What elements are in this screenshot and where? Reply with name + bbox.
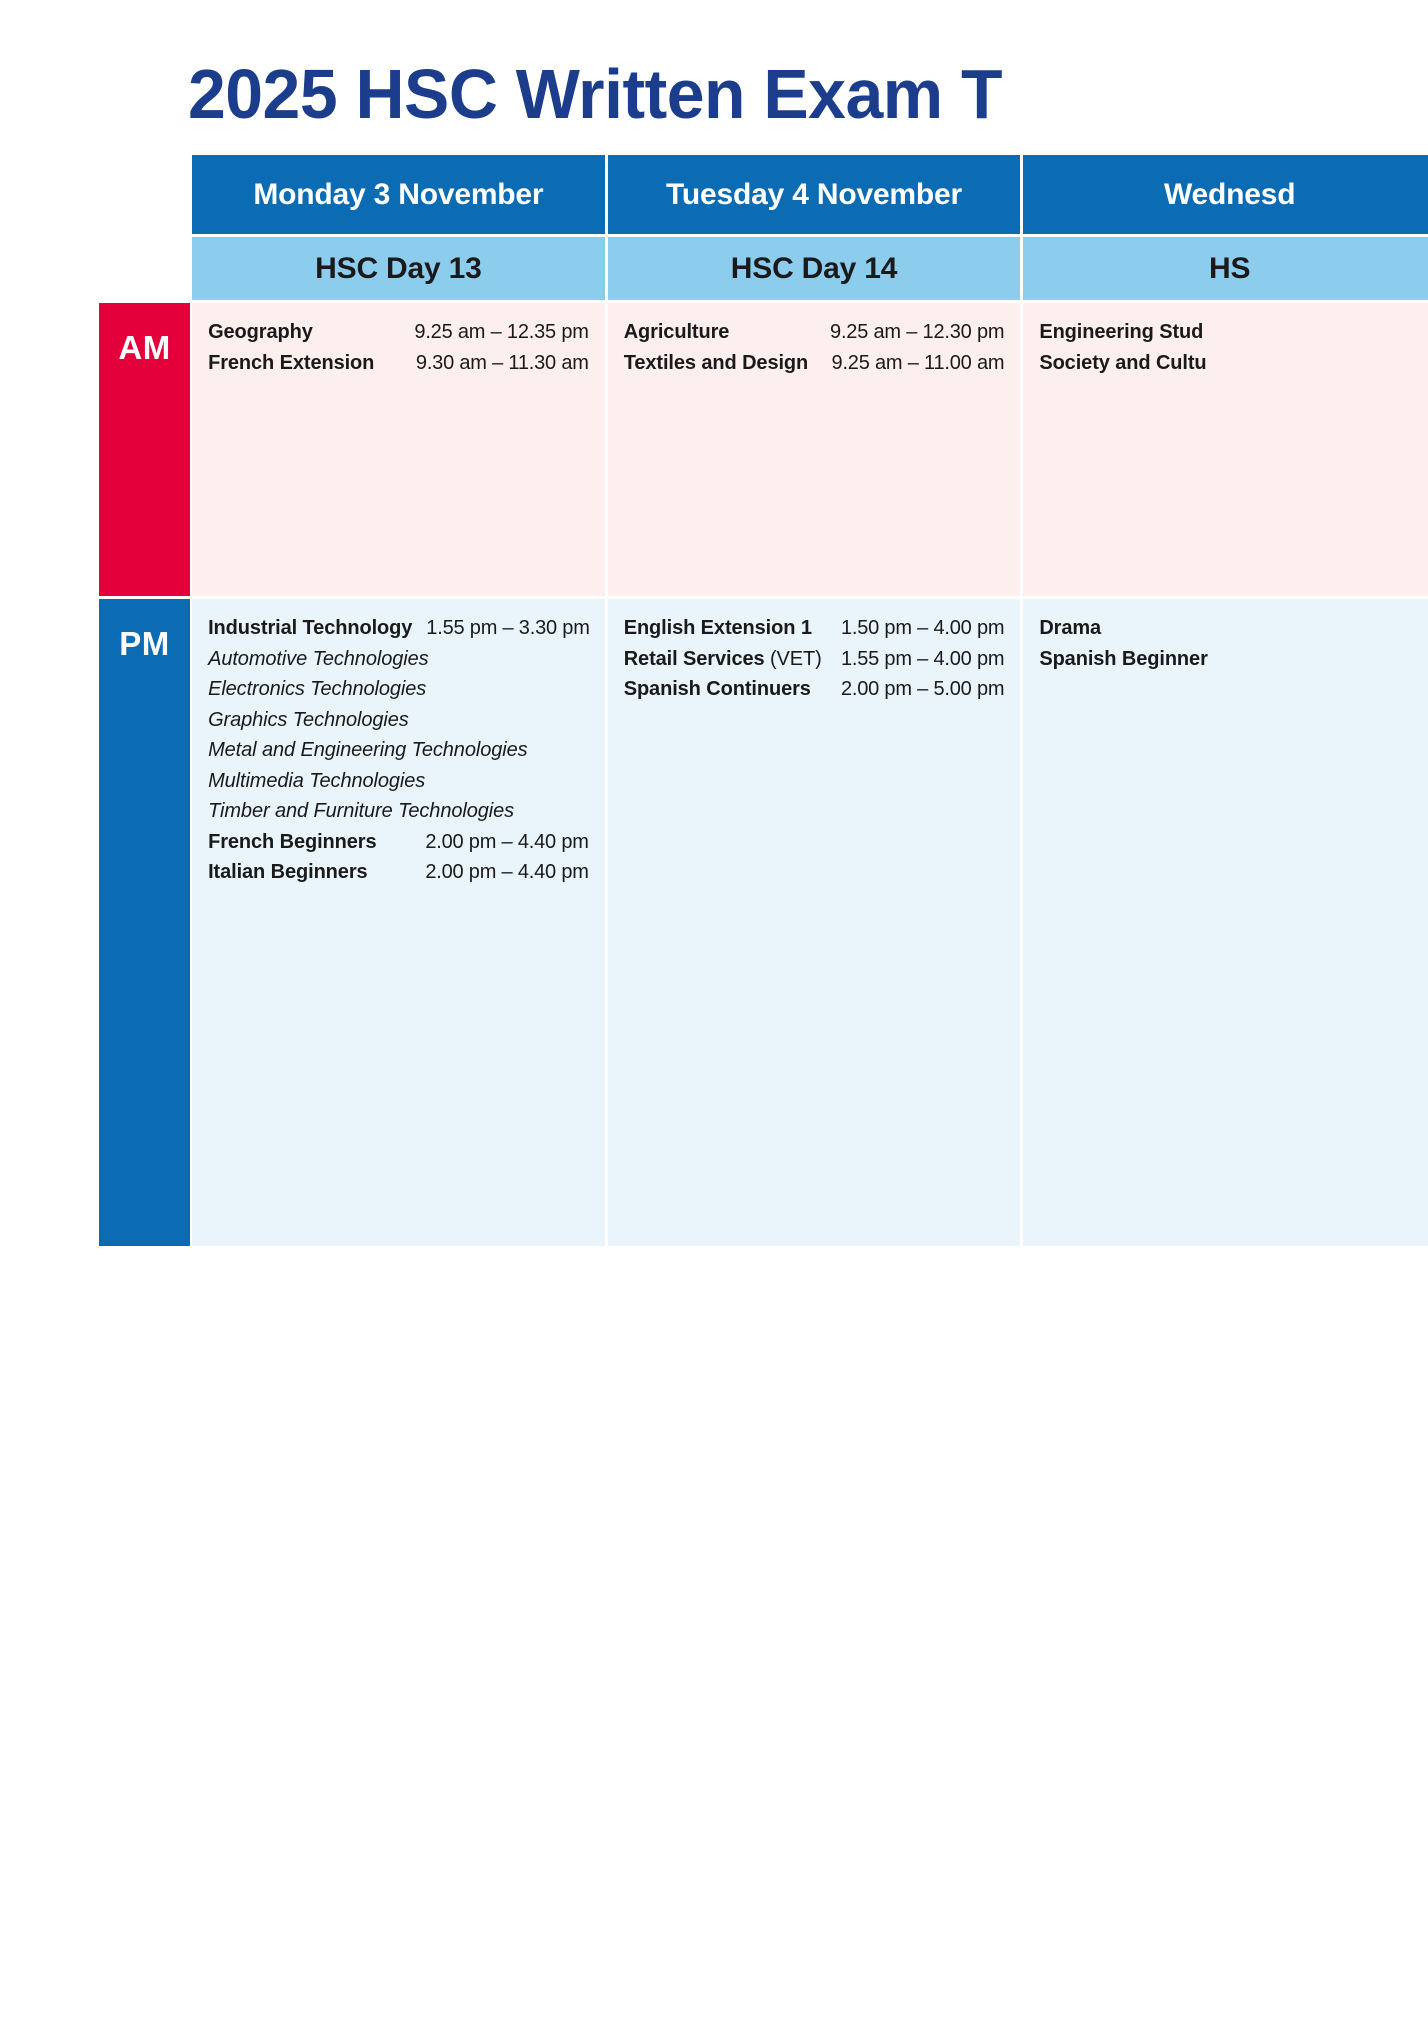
exam-subject: Geography xyxy=(208,317,313,348)
column-header-day-1: HSC Day 14 xyxy=(608,234,1024,300)
page-title: 2025 HSC Written Exam T xyxy=(188,58,1428,132)
exam-cell-pm-day14: English Extension 1 1.50 pm – 4.00 pm Re… xyxy=(608,596,1024,1246)
exam-subject: Agriculture xyxy=(624,317,730,348)
exam-entry: Engineering Stud xyxy=(1039,317,1420,348)
exam-subject: English Extension 1 xyxy=(624,613,812,644)
exam-sub-item: Electronics Technologies xyxy=(208,674,589,705)
timetable-table: Monday 3 November Tuesday 4 November Wed… xyxy=(99,155,1428,1246)
exam-entry: English Extension 1 1.50 pm – 4.00 pm xyxy=(624,613,1005,644)
exam-subject: Italian Beginners xyxy=(208,857,367,888)
exam-entry: French Extension 9.30 am – 11.30 am xyxy=(208,348,589,379)
exam-sub-item: Timber and Furniture Technologies xyxy=(208,796,589,827)
column-header-day-0: HSC Day 13 xyxy=(192,234,608,300)
exam-entry: Geography 9.25 am – 12.35 pm xyxy=(208,317,589,348)
exam-subject: Drama xyxy=(1039,613,1101,644)
session-badge-pm: PM xyxy=(99,599,190,663)
corner-blank xyxy=(99,155,192,234)
cell-spacer xyxy=(208,888,589,1236)
exam-sub-item: Automotive Technologies xyxy=(208,644,589,675)
exam-time: 9.30 am – 11.30 am xyxy=(402,348,589,379)
exam-cell-am-day13: Geography 9.25 am – 12.35 pm French Exte… xyxy=(192,300,608,596)
session-badge-am: AM xyxy=(99,303,190,367)
exam-subject-vet: Retail Services (VET) xyxy=(624,644,822,675)
exam-timetable: Monday 3 November Tuesday 4 November Wed… xyxy=(99,155,1428,1246)
exam-subject: Textiles and Design xyxy=(624,348,808,379)
exam-entry: Spanish Beginner xyxy=(1039,644,1420,675)
column-header-day-2: HS xyxy=(1023,234,1428,300)
table-row-am: AM Geography 9.25 am – 12.35 pm French E… xyxy=(99,300,1428,596)
exam-time: 1.50 pm – 4.00 pm xyxy=(827,613,1004,644)
exam-subject: Spanish Continuers xyxy=(624,674,811,705)
session-label-pm: PM xyxy=(99,596,192,1246)
exam-time: 2.00 pm – 4.40 pm xyxy=(411,857,588,888)
exam-subject: Spanish Beginner xyxy=(1039,644,1207,675)
exam-time: 1.55 pm – 4.00 pm xyxy=(827,644,1004,675)
session-label-am: AM xyxy=(99,300,192,596)
exam-entry: French Beginners 2.00 pm – 4.40 pm xyxy=(208,827,589,858)
column-header-date-1: Tuesday 4 November xyxy=(608,155,1024,234)
exam-entry: Society and Cultu xyxy=(1039,348,1420,379)
exam-subject: French Beginners xyxy=(208,827,376,858)
table-row-dates: Monday 3 November Tuesday 4 November Wed… xyxy=(99,155,1428,234)
exam-subject: Industrial Technology xyxy=(208,613,412,644)
exam-time: 2.00 pm – 5.00 pm xyxy=(827,674,1004,705)
exam-entry: Industrial Technology 1.55 pm – 3.30 pm xyxy=(208,613,589,644)
table-row-days: HSC Day 13 HSC Day 14 HS xyxy=(99,234,1428,300)
exam-cell-pm-day15: Drama Spanish Beginner xyxy=(1023,596,1428,1246)
table-row-pm: PM Industrial Technology 1.55 pm – 3.30 … xyxy=(99,596,1428,1246)
exam-entry: Italian Beginners 2.00 pm – 4.40 pm xyxy=(208,857,589,888)
exam-entry: Textiles and Design 9.25 am – 11.00 am xyxy=(624,348,1005,379)
exam-time: 9.25 am – 12.30 pm xyxy=(816,317,1004,348)
exam-entry: Agriculture 9.25 am – 12.30 pm xyxy=(624,317,1005,348)
exam-time: 1.55 pm – 3.30 pm xyxy=(412,613,589,644)
exam-sub-item: Metal and Engineering Technologies xyxy=(208,735,589,766)
exam-time: 2.00 pm – 4.40 pm xyxy=(411,827,588,858)
exam-cell-pm-day13: Industrial Technology 1.55 pm – 3.30 pm … xyxy=(192,596,608,1246)
page-root: 2025 HSC Written Exam T Monday 3 Novembe… xyxy=(0,0,1428,2018)
exam-time: 9.25 am – 12.35 pm xyxy=(400,317,588,348)
exam-subject-name: Retail Services xyxy=(624,648,765,670)
cell-spacer xyxy=(208,378,589,586)
column-header-date-2: Wednesd xyxy=(1023,155,1428,234)
column-header-date-0: Monday 3 November xyxy=(192,155,608,234)
exam-cell-am-day15: Engineering Stud Society and Cultu xyxy=(1023,300,1428,596)
exam-sub-item: Multimedia Technologies xyxy=(208,766,589,797)
exam-time: 9.25 am – 11.00 am xyxy=(818,348,1005,379)
exam-subject: French Extension xyxy=(208,348,374,379)
exam-subject: Society and Cultu xyxy=(1039,348,1206,379)
corner-blank-2 xyxy=(99,234,192,300)
exam-sub-item: Graphics Technologies xyxy=(208,705,589,736)
exam-entry: Retail Services (VET) 1.55 pm – 4.00 pm xyxy=(624,644,1005,675)
exam-entry: Spanish Continuers 2.00 pm – 5.00 pm xyxy=(624,674,1005,705)
exam-entry: Drama xyxy=(1039,613,1420,644)
exam-cell-am-day14: Agriculture 9.25 am – 12.30 pm Textiles … xyxy=(608,300,1024,596)
vet-tag: (VET) xyxy=(765,648,822,670)
exam-subject: Engineering Stud xyxy=(1039,317,1203,348)
